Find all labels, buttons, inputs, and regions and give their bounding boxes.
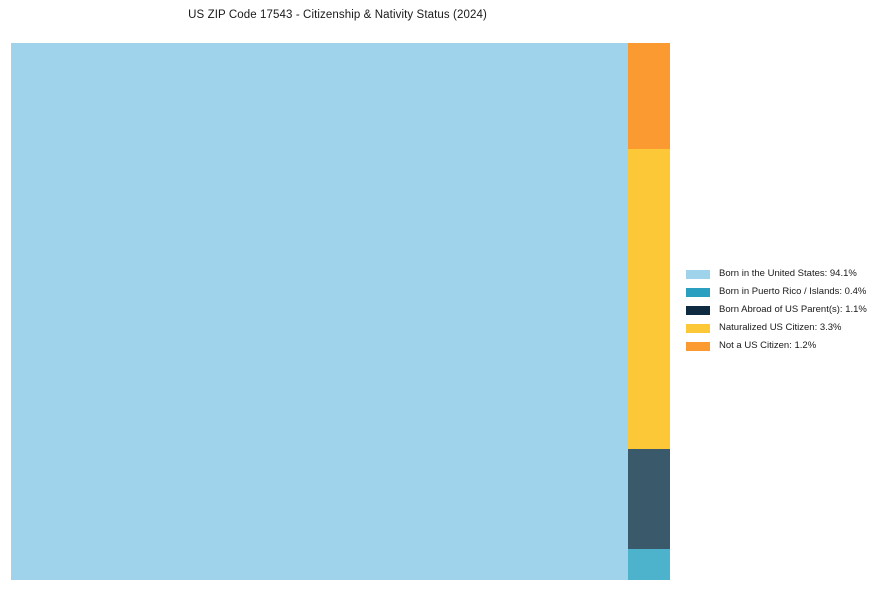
legend-item-label: Not a US Citizen: 1.2% — [719, 341, 816, 351]
legend-item-naturalized-us-citizen[interactable]: Naturalized US Citizen: 3.3% — [686, 319, 882, 337]
chart-page: US ZIP Code 17543 - Citizenship & Nativi… — [0, 0, 889, 590]
legend-item-label: Born Abroad of US Parent(s): 1.1% — [719, 305, 867, 315]
mosaic-plot-area — [11, 43, 670, 580]
legend-item-label: Naturalized US Citizen: 3.3% — [719, 323, 842, 333]
page-title: US ZIP Code 17543 - Citizenship & Nativi… — [0, 9, 675, 21]
legend-item-born-in-the-united-states[interactable]: Born in the United States: 94.1% — [686, 265, 882, 283]
legend-item-born-in-puerto-rico-islands[interactable]: Born in Puerto Rico / Islands: 0.4% — [686, 283, 882, 301]
mosaic-column-right — [628, 43, 670, 580]
chart-legend: Born in the United States: 94.1% Born in… — [686, 265, 882, 355]
legend-item-label: Born in Puerto Rico / Islands: 0.4% — [719, 287, 866, 297]
legend-item-not-a-us-citizen[interactable]: Not a US Citizen: 1.2% — [686, 337, 882, 355]
legend-item-label: Born in the United States: 94.1% — [719, 269, 857, 279]
legend-swatch-icon — [686, 288, 710, 297]
mosaic-tile-naturalized-us-citizen[interactable] — [628, 149, 670, 449]
legend-swatch-icon — [686, 324, 710, 333]
mosaic-tile-born-in-the-united-states[interactable] — [11, 43, 628, 580]
legend-swatch-icon — [686, 270, 710, 279]
legend-swatch-icon — [686, 342, 710, 351]
mosaic-tile-born-in-puerto-rico-islands[interactable] — [628, 549, 670, 580]
mosaic-tile-born-abroad-of-us-parents[interactable] — [628, 449, 670, 549]
mosaic-column-left — [11, 43, 628, 580]
mosaic-tile-not-a-us-citizen[interactable] — [628, 43, 670, 149]
legend-swatch-icon — [686, 306, 710, 315]
legend-item-born-abroad-of-us-parents[interactable]: Born Abroad of US Parent(s): 1.1% — [686, 301, 882, 319]
